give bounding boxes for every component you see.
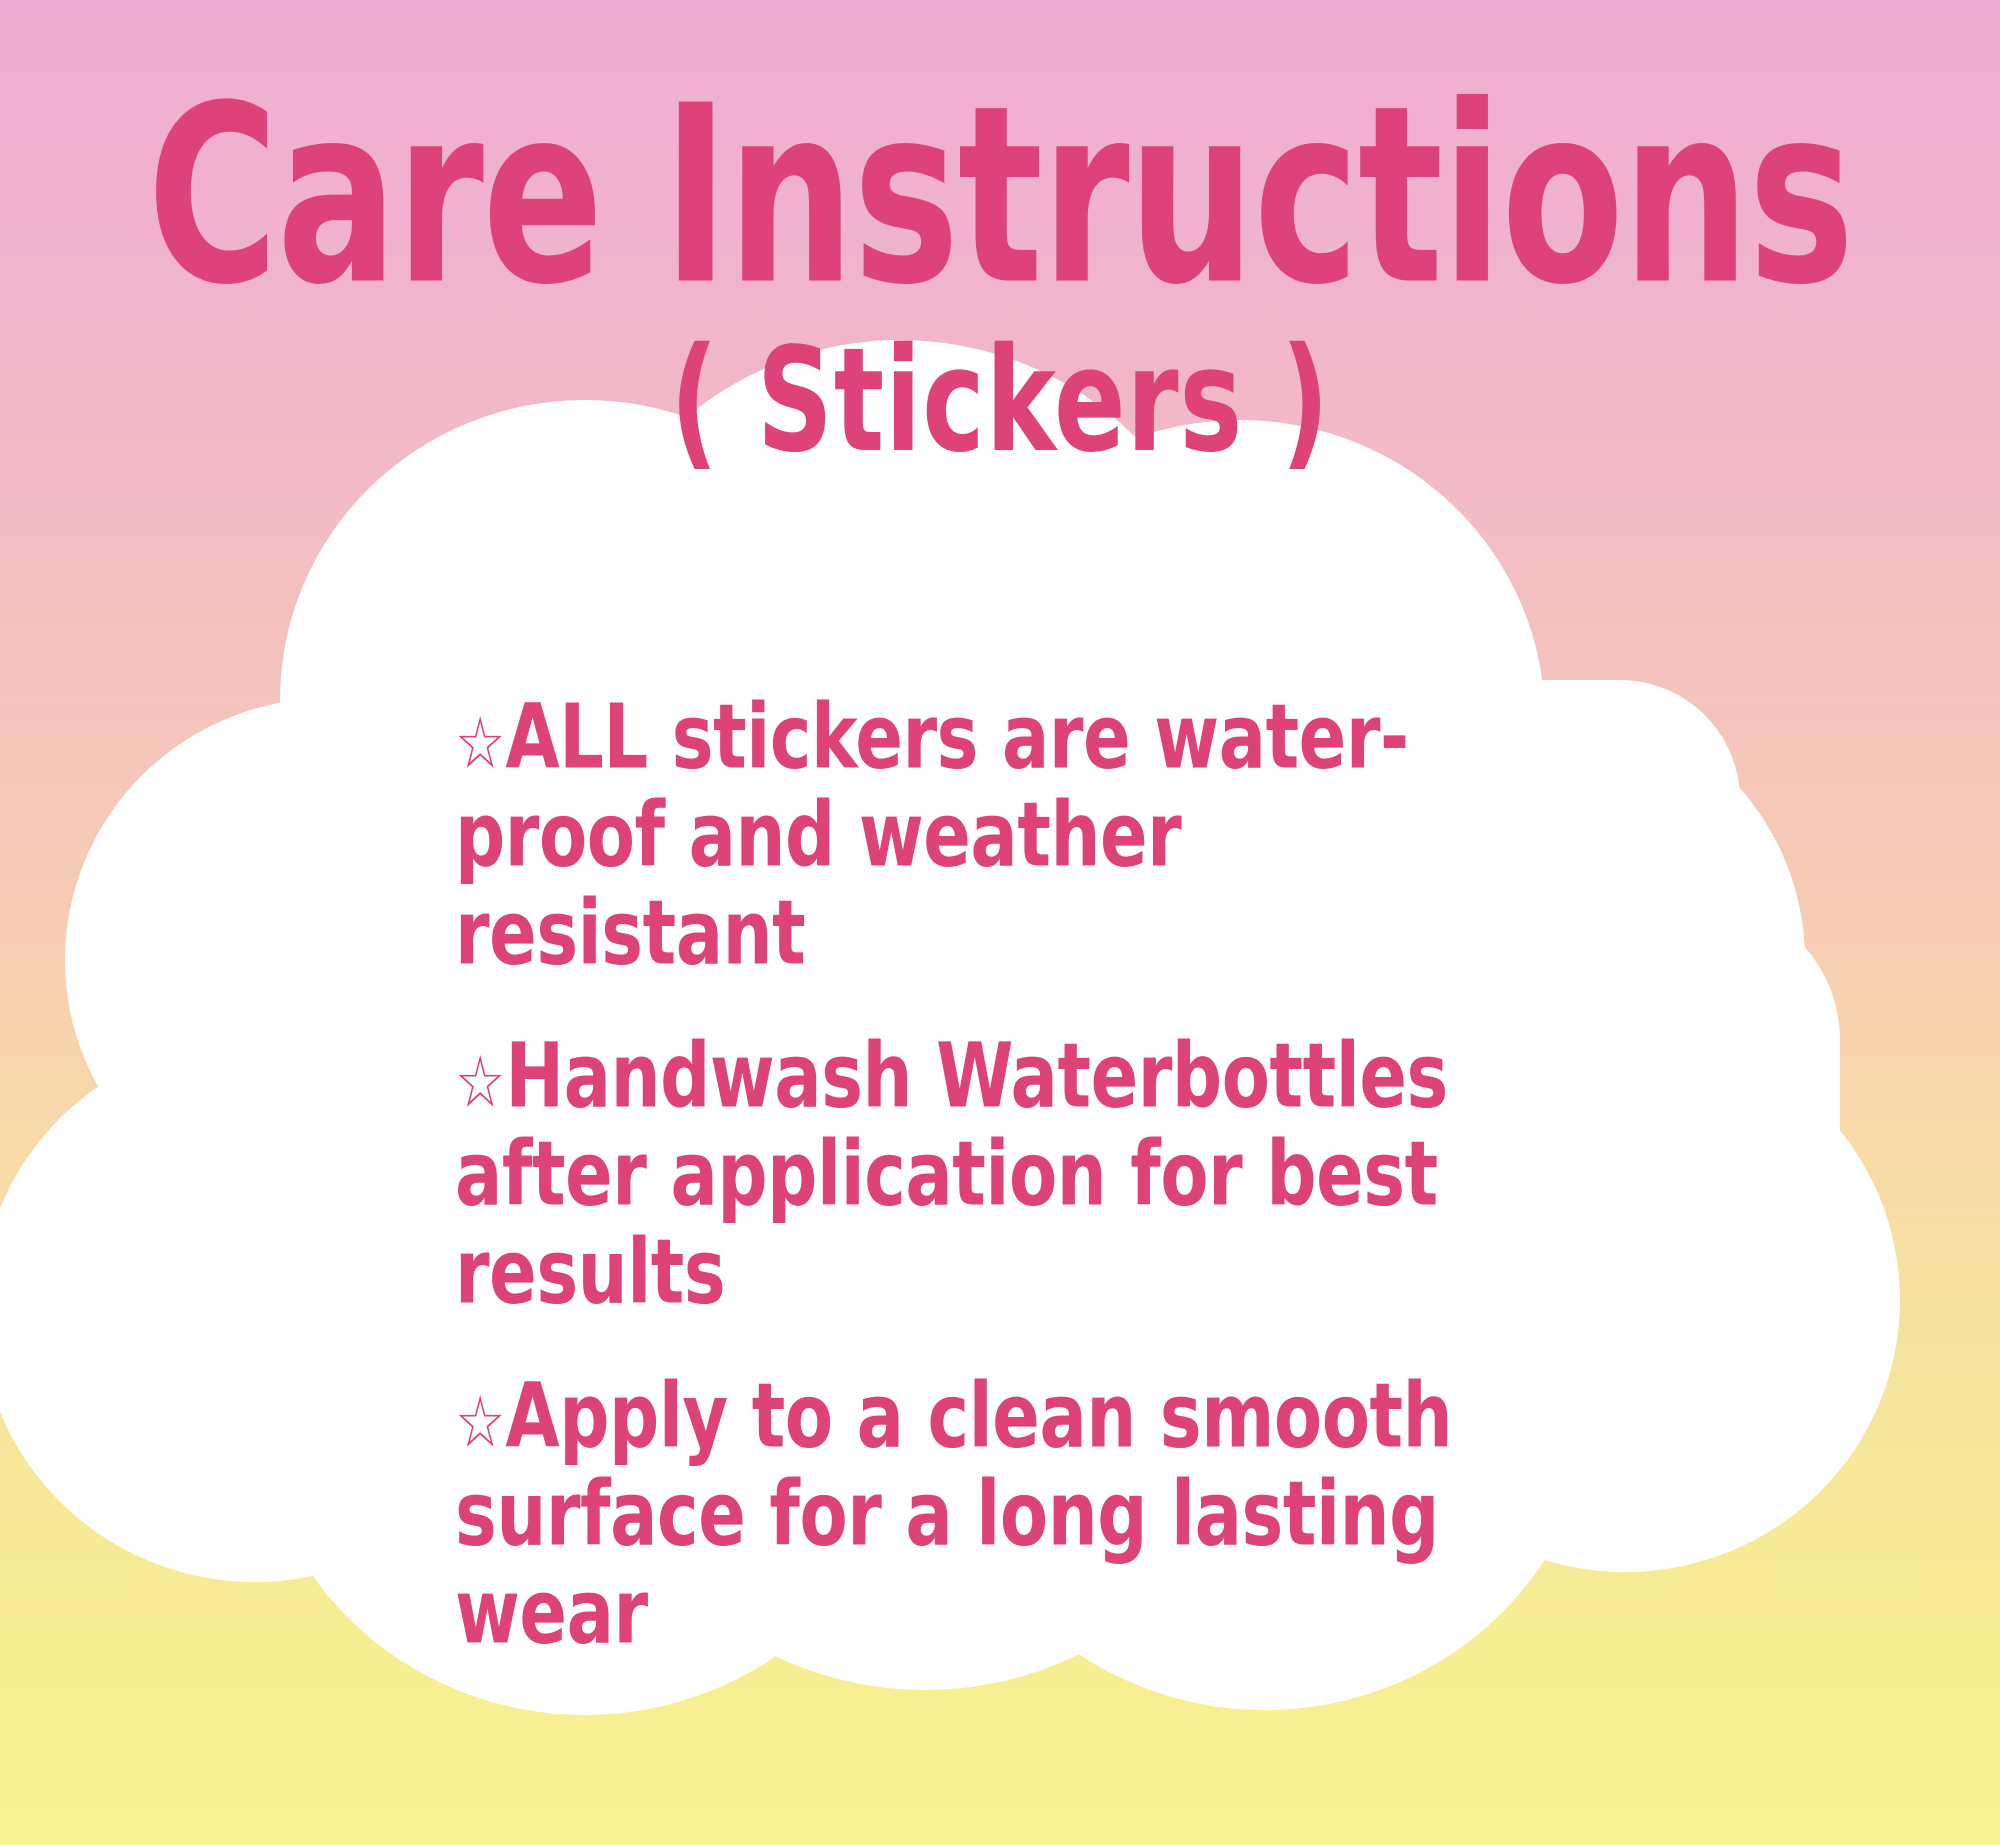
care-instructions-list: ☆ALL stickers are water-proof and weathe… xyxy=(455,690,1575,1626)
list-item: ☆Apply to a clean smooth surface for a l… xyxy=(455,1369,1463,1662)
care-instructions-poster: Care Instructions ( Stickers ) ☆ALL stic… xyxy=(0,0,2000,1845)
poster-header: Care Instructions ( Stickers ) xyxy=(0,0,2000,450)
page-title: Care Instructions xyxy=(140,74,1860,319)
page-subtitle: ( Stickers ) xyxy=(120,330,1880,474)
list-item: ☆ALL stickers are water-proof and weathe… xyxy=(455,690,1463,983)
list-item: ☆Handwash Waterbottles after application… xyxy=(455,1029,1463,1322)
list-item-label: Handwash Waterbottles after application … xyxy=(455,1026,1448,1324)
list-item-label: ALL stickers are water-proof and weather… xyxy=(455,687,1409,985)
star-outline-icon: ☆ xyxy=(455,1041,505,1124)
star-outline-icon: ☆ xyxy=(455,1380,505,1463)
star-outline-icon: ☆ xyxy=(455,701,505,784)
list-item-label: Apply to a clean smooth surface for a lo… xyxy=(455,1365,1452,1663)
